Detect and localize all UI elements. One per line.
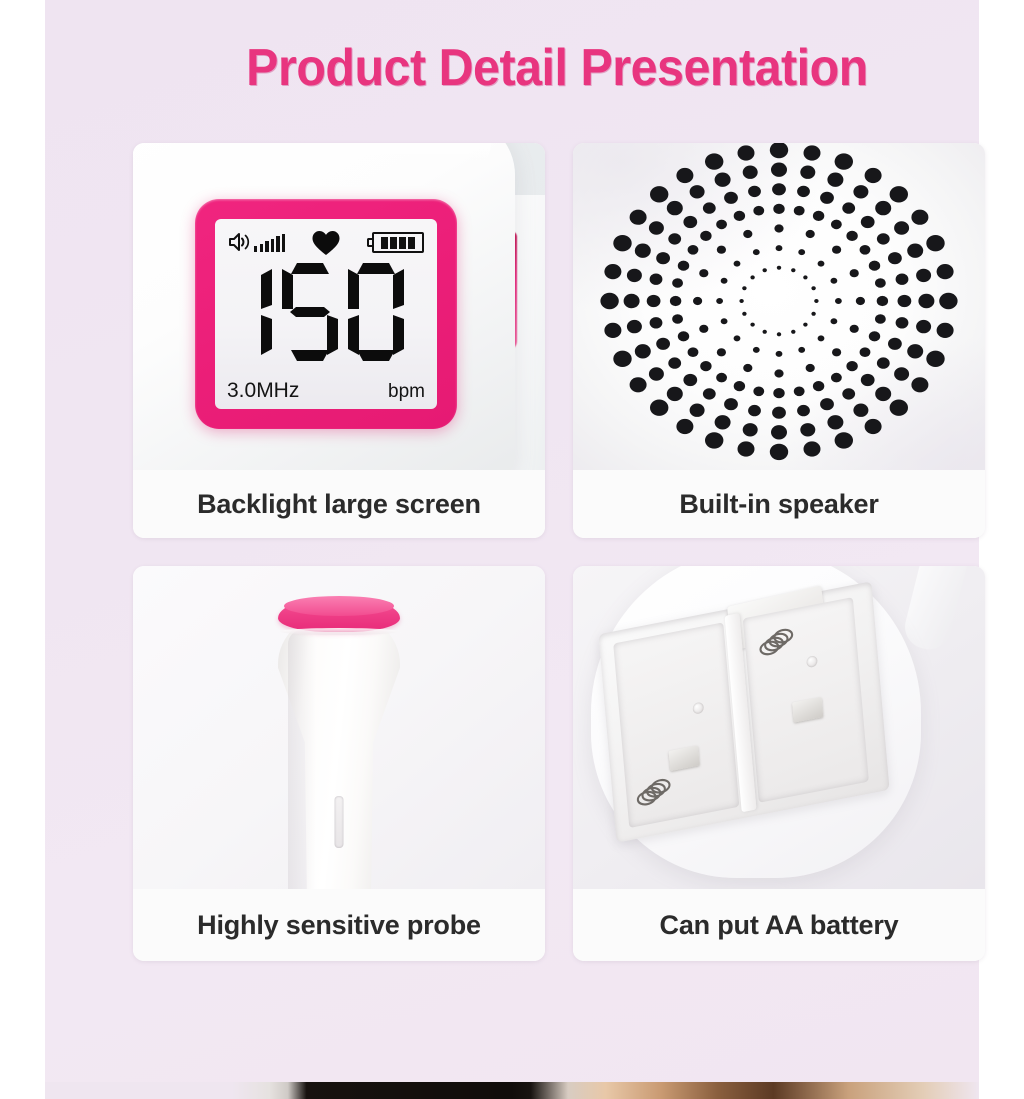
probe-assembly [254,590,424,889]
lcd-digit-0 [348,263,404,361]
feature-card-grid: 3.0MHz bpm Backlight large screen [133,143,985,983]
feature-card-backlight-screen[interactable]: 3.0MHz bpm Backlight large screen [133,143,545,538]
lcd-status-row [226,228,426,258]
product-photo-lcd-screen: 3.0MHz bpm [133,143,545,470]
next-image-sliver [45,1082,979,1099]
device-gloss-highlight [133,143,491,173]
lcd-digit-5 [282,263,338,361]
lcd-bottom-row: 3.0MHz bpm [227,379,425,403]
caption-aa-battery: Can put AA battery [573,889,985,961]
page-title: Product Detail Presentation [81,38,1024,98]
feature-card-aa-battery[interactable]: Can put AA battery [573,566,985,961]
lcd-unit-label: bpm [388,381,425,403]
caption-backlight-screen: Backlight large screen [133,470,545,538]
product-detail-page: Product Detail Presentation [0,0,1024,1099]
product-photo-speaker-grille [573,143,985,470]
signal-bars-icon [254,233,285,252]
probe-seam [280,628,398,635]
lcd-screen: 3.0MHz bpm [215,219,437,409]
probe-cable [900,566,971,654]
content-panel: Product Detail Presentation [45,0,979,1082]
product-photo-battery-compartment [573,566,985,889]
speaker-grille-icon [573,143,985,470]
probe-shading [288,630,316,889]
caption-sensitive-probe: Highly sensitive probe [133,889,545,961]
lcd-digit-1 [242,263,272,361]
lcd-frequency-label: 3.0MHz [227,379,299,403]
lcd-reading [215,263,431,361]
battery-icon [372,232,424,253]
speaker-icon [228,232,252,252]
probe-slot-detail [335,796,344,848]
heart-icon [311,230,341,256]
lcd-bezel: 3.0MHz bpm [195,199,457,429]
product-photo-probe [133,566,545,889]
caption-built-in-speaker: Built-in speaker [573,470,985,538]
feature-card-built-in-speaker[interactable]: Built-in speaker [573,143,985,538]
feature-card-sensitive-probe[interactable]: Highly sensitive probe [133,566,545,961]
probe-cap-highlight [284,596,394,616]
